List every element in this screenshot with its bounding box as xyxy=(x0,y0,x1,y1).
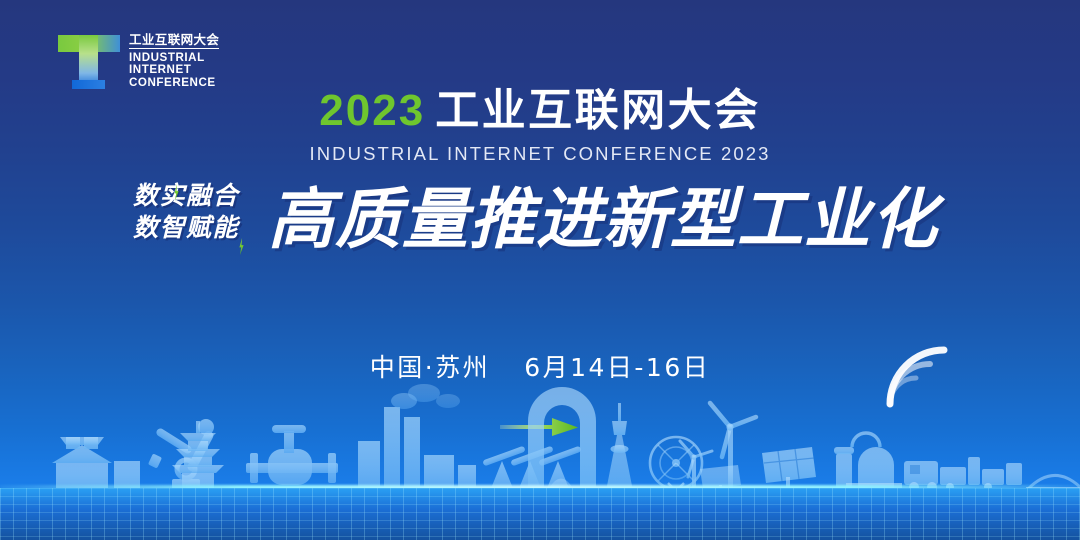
slogan-secondary-text-2: 数智赋能 xyxy=(133,213,239,242)
perspective-grid xyxy=(0,488,1080,540)
title-year: 2023 xyxy=(319,86,425,135)
logo-chinese-name: 工业互联网大会 xyxy=(129,33,219,49)
factory-smokestacks-icon xyxy=(358,384,476,491)
title-chinese: 工业互联网大会 xyxy=(435,85,761,136)
city-industry-skyline xyxy=(0,365,1080,540)
logo-english-line-2: INTERNET xyxy=(129,64,219,76)
slogan-primary: 高质量推进新型工业化 xyxy=(268,176,938,263)
main-title: 2023工业互联网大会 xyxy=(0,88,1080,134)
conference-logo: 工业互联网大会 INDUSTRIAL INTERNET CONFERENCE xyxy=(58,30,219,92)
slogan-secondary-line-1: 数实融合 xyxy=(133,182,239,209)
title-block: 2023工业互联网大会 INDUSTRIAL INTERNET CONFEREN… xyxy=(0,88,1080,165)
logo-english-line-3: CONFERENCE xyxy=(129,77,219,89)
slogan-secondary: 数实融合 数智赋能 xyxy=(133,182,239,241)
tv-tower-icon xyxy=(602,403,638,492)
conference-banner: 工业互联网大会 INDUSTRIAL INTERNET CONFERENCE 2… xyxy=(0,0,1080,540)
storage-tanks-icon xyxy=(834,433,902,491)
lightning-bolt-icon xyxy=(238,238,245,255)
title-english: INDUSTRIAL INTERNET CONFERENCE 2023 xyxy=(0,143,1080,165)
slogan-block: 数实融合 数智赋能 高质量推进新型工业化 xyxy=(0,176,1080,284)
pipe-valve-icon xyxy=(246,425,338,485)
traditional-hall-icon xyxy=(52,437,140,491)
t-monogram-icon xyxy=(58,30,120,92)
logo-wordmark: 工业互联网大会 INDUSTRIAL INTERNET CONFERENCE xyxy=(129,33,219,88)
slogan-secondary-text-1: 数实融合 xyxy=(133,181,239,210)
slogan-secondary-line-2: 数智赋能 xyxy=(133,214,239,241)
